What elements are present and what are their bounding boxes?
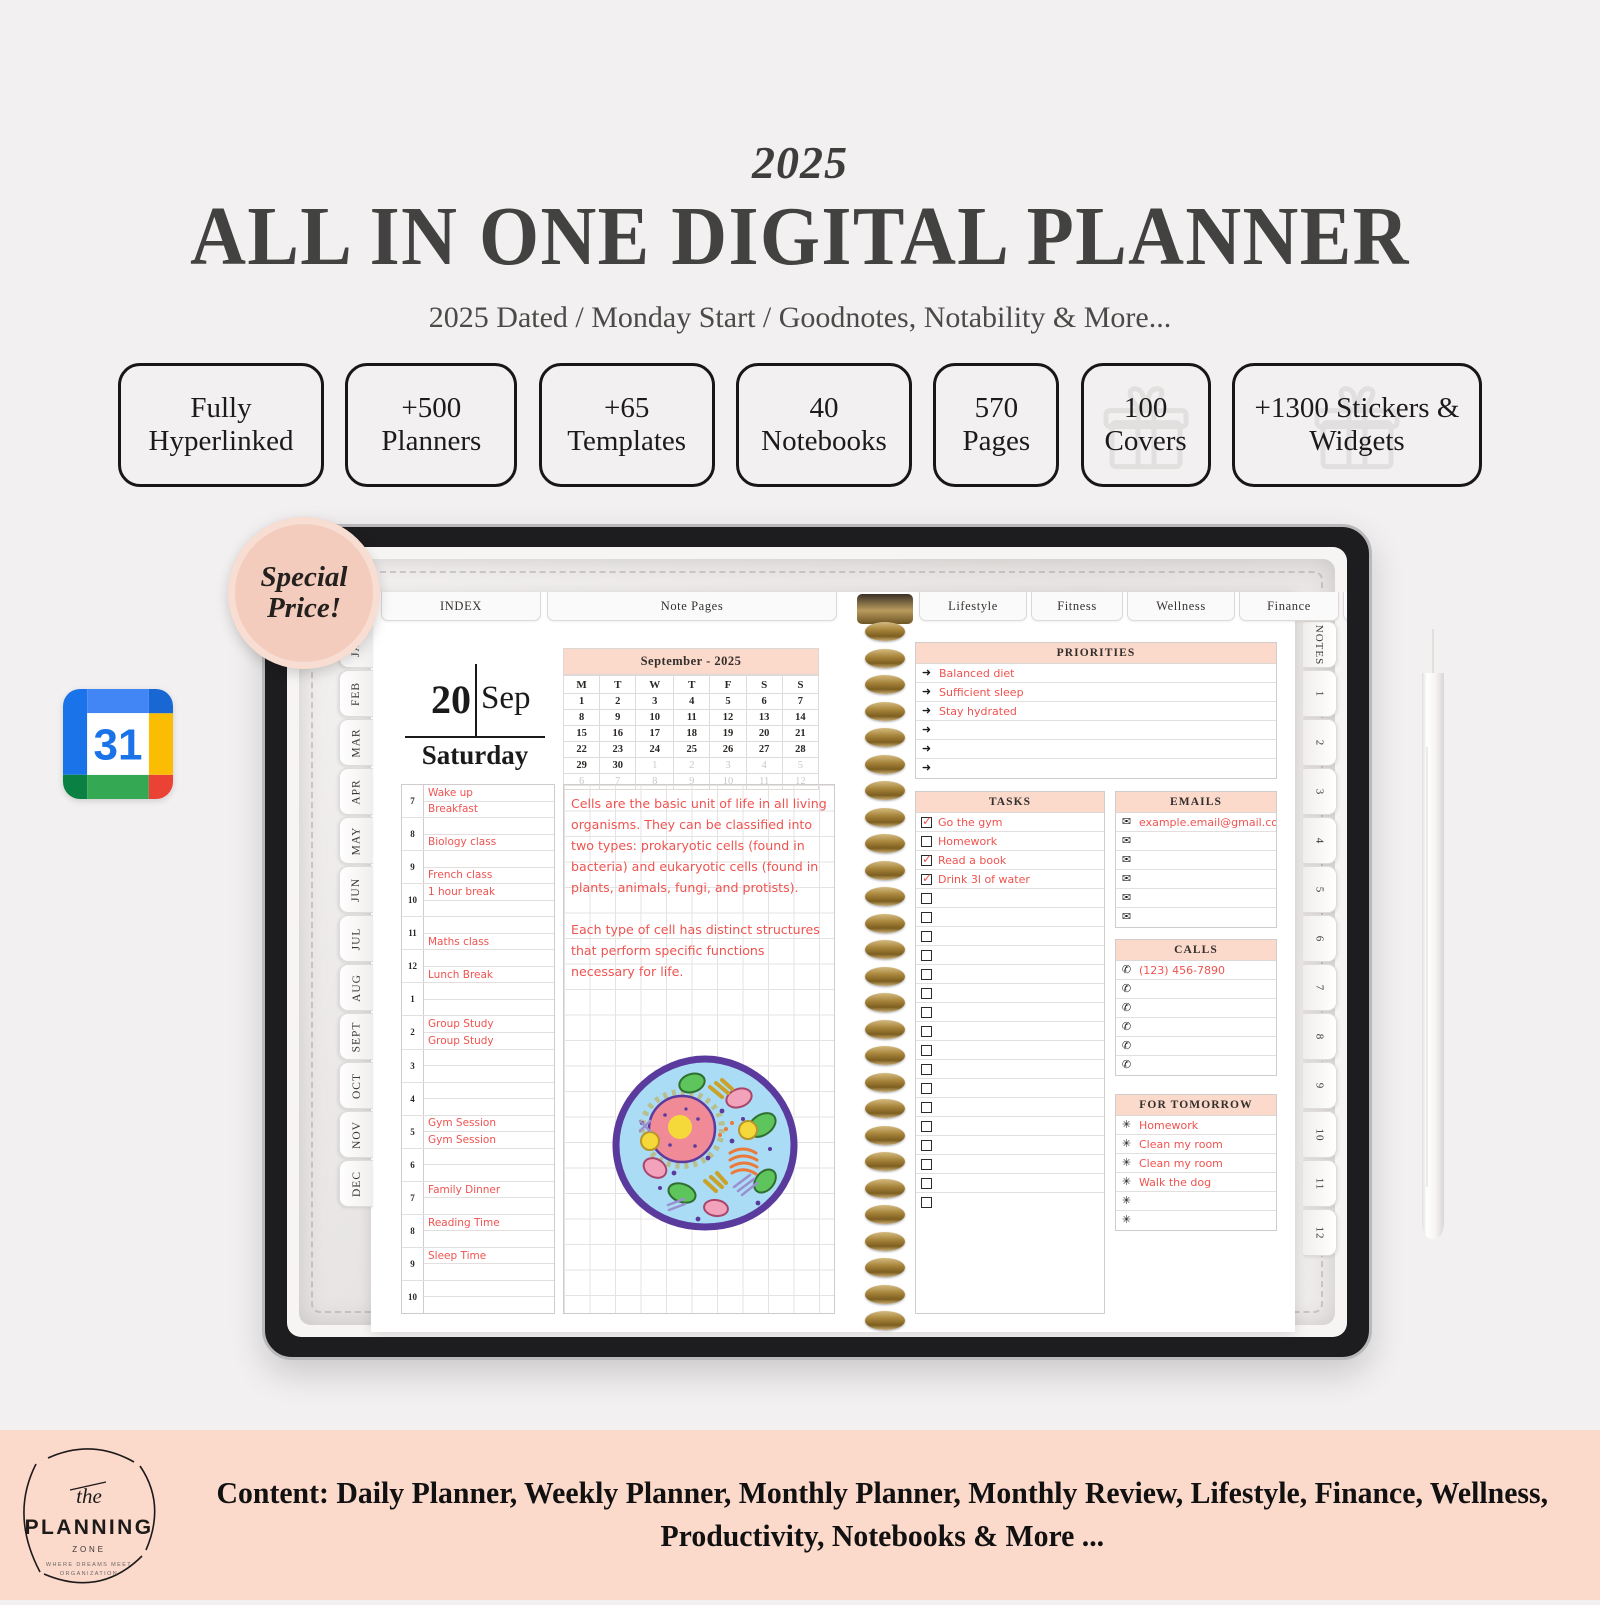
calendar-day-cell[interactable]: 1 bbox=[564, 694, 600, 710]
badge-line-1: Fully bbox=[190, 392, 251, 425]
calendar-day-cell[interactable]: 30 bbox=[600, 758, 636, 774]
priority-row[interactable]: ➜ bbox=[916, 740, 1276, 759]
schedule-entry[interactable] bbox=[424, 901, 554, 917]
schedule-entry[interactable] bbox=[424, 1000, 554, 1016]
task-row[interactable] bbox=[916, 1155, 1104, 1174]
schedule-row[interactable]: 11Maths class bbox=[402, 917, 554, 950]
task-row[interactable] bbox=[916, 1041, 1104, 1060]
call-row[interactable]: ✆ bbox=[1116, 1018, 1276, 1037]
schedule-entry[interactable]: Group Study bbox=[424, 1016, 554, 1033]
notes-tab-label: 3 bbox=[1314, 788, 1326, 795]
calendar-day-cell[interactable]: 28 bbox=[782, 742, 818, 758]
schedule-row[interactable]: 7Wake upBreakfast bbox=[402, 785, 554, 818]
month-tab-label: FEB bbox=[351, 681, 363, 705]
calendar-day-cell[interactable]: 17 bbox=[636, 726, 674, 742]
schedule-entry[interactable] bbox=[424, 1050, 554, 1067]
calendar-day-cell[interactable]: 19 bbox=[710, 726, 746, 742]
feature-badge-covers: 100Covers bbox=[1081, 363, 1211, 487]
schedule-entry[interactable] bbox=[424, 1231, 554, 1247]
schedule-entry[interactable]: Reading Time bbox=[424, 1215, 554, 1232]
special-price-line2: Price! bbox=[267, 593, 341, 624]
calendar-day-cell[interactable]: 15 bbox=[564, 726, 600, 742]
task-row[interactable] bbox=[916, 1003, 1104, 1022]
month-tab-aug[interactable]: AUG bbox=[339, 964, 373, 1011]
logo-name: PLANNING bbox=[25, 1516, 154, 1539]
notes-tab-1[interactable]: 1 bbox=[1303, 670, 1337, 717]
schedule-lines: Group StudyGroup Study bbox=[424, 1016, 554, 1048]
priority-row[interactable]: ➜ bbox=[916, 759, 1276, 778]
task-checkbox[interactable] bbox=[921, 893, 932, 904]
notes-tab-2[interactable]: 2 bbox=[1303, 719, 1337, 766]
task-row[interactable] bbox=[916, 965, 1104, 984]
envelope-icon: ✉ bbox=[1120, 836, 1133, 847]
calendar-day-cell[interactable]: 10 bbox=[636, 710, 674, 726]
schedule-entry[interactable] bbox=[424, 1165, 554, 1181]
calendar-day-cell[interactable]: 12 bbox=[710, 710, 746, 726]
row-text[interactable]: Clean my room bbox=[1139, 1157, 1223, 1170]
email-row[interactable]: ✉example.email@gmail.com bbox=[1116, 813, 1276, 832]
notes-grid-area[interactable]: Cells are the basic unit of life in all … bbox=[563, 784, 835, 1314]
month-tab-sept[interactable]: SEPT bbox=[339, 1013, 373, 1060]
binder-ring bbox=[865, 702, 905, 721]
task-row[interactable]: Homework bbox=[916, 832, 1104, 851]
task-checkbox[interactable] bbox=[921, 1197, 932, 1208]
for-tomorrow-section[interactable]: FOR TOMORROW ✳Homework✳Clean my room✳Cle… bbox=[1115, 1094, 1277, 1231]
month-tab-apr[interactable]: APR bbox=[339, 768, 373, 815]
month-tab-feb[interactable]: FEB bbox=[339, 670, 373, 717]
calendar-day-cell[interactable]: 21 bbox=[782, 726, 818, 742]
emails-section[interactable]: EMAILS ✉example.email@gmail.com✉✉✉✉✉ bbox=[1115, 791, 1277, 928]
schedule-entry[interactable]: Family Dinner bbox=[424, 1182, 554, 1199]
call-row[interactable]: ✆(123) 456-7890 bbox=[1116, 961, 1276, 980]
task-row[interactable] bbox=[916, 1079, 1104, 1098]
logo-tagline-2: ORGANIZATION bbox=[60, 1571, 118, 1577]
phone-icon: ✆ bbox=[1120, 1060, 1133, 1071]
calendar-day-cell[interactable]: 20 bbox=[746, 726, 782, 742]
schedule-lines bbox=[424, 1083, 554, 1115]
task-row[interactable] bbox=[916, 1022, 1104, 1041]
envelope-icon: ✉ bbox=[1120, 855, 1133, 866]
schedule-lines: Maths class bbox=[424, 917, 554, 949]
schedule-entry[interactable] bbox=[424, 1198, 554, 1214]
calendar-day-cell[interactable]: 3 bbox=[636, 694, 674, 710]
notes-tab-6[interactable]: 6 bbox=[1303, 915, 1337, 962]
schedule-row[interactable]: 10 bbox=[402, 1281, 554, 1313]
calendar-day-cell[interactable]: 4 bbox=[674, 694, 710, 710]
gcal-day-number: 31 bbox=[94, 720, 143, 769]
tomorrow-row[interactable]: ✳Clean my room bbox=[1116, 1135, 1276, 1154]
binder-ring bbox=[865, 649, 905, 668]
month-tab-label: JUL bbox=[351, 927, 363, 950]
schedule-entry[interactable] bbox=[424, 1083, 554, 1100]
schedule-hour-label: 11 bbox=[402, 917, 424, 949]
task-row[interactable] bbox=[916, 1117, 1104, 1136]
schedule-lines: Wake upBreakfast bbox=[424, 785, 554, 817]
calendar-day-cell[interactable]: 2 bbox=[600, 694, 636, 710]
calendar-day-cell[interactable]: 4 bbox=[746, 758, 782, 774]
calendar-week-row: 1234567 bbox=[564, 694, 819, 710]
notes-tab-7[interactable]: 7 bbox=[1303, 964, 1337, 1011]
arrow-right-icon: ➜ bbox=[920, 763, 933, 774]
calendar-day-cell[interactable]: 7 bbox=[782, 694, 818, 710]
mini-calendar-grid[interactable]: MTWTFSS 12345678910111213141516171819202… bbox=[563, 675, 819, 790]
tomorrow-row[interactable]: ✳ bbox=[1116, 1211, 1276, 1230]
priority-row[interactable]: ➜ bbox=[916, 721, 1276, 740]
schedule-lines bbox=[424, 1050, 554, 1082]
notes-tab-label: 5 bbox=[1314, 886, 1326, 893]
binder-ring bbox=[865, 1258, 905, 1277]
tab-lifestyle[interactable]: Lifestyle bbox=[919, 592, 1027, 621]
tab-note-pages[interactable]: Note Pages bbox=[547, 592, 837, 621]
header-subtitle: 2025 Dated / Monday Start / Goodnotes, N… bbox=[0, 301, 1600, 335]
binder-ring bbox=[865, 1126, 905, 1145]
task-checkbox[interactable] bbox=[921, 1121, 932, 1132]
task-checkbox[interactable] bbox=[921, 1102, 932, 1113]
brand-logo: the PLANNING ZONE WHERE DREAMS MEET ORGA… bbox=[0, 1430, 178, 1600]
task-checkbox[interactable] bbox=[921, 931, 932, 942]
feature-badge-pages: 570Pages bbox=[933, 363, 1059, 487]
task-checkbox[interactable] bbox=[921, 1178, 932, 1189]
task-checkbox[interactable] bbox=[921, 836, 932, 847]
schedule-entry[interactable] bbox=[424, 1297, 554, 1313]
badge-line-2: Pages bbox=[962, 425, 1030, 458]
month-tab-jul[interactable]: JUL bbox=[339, 915, 373, 962]
call-row[interactable]: ✆ bbox=[1116, 999, 1276, 1018]
notes-tab-strip[interactable]: NOTES123456789101112 bbox=[1303, 621, 1337, 1258]
tab-productivity[interactable]: Productivity bbox=[1343, 592, 1347, 621]
schedule-lines: Reading Time bbox=[424, 1215, 554, 1247]
schedule-lines: French class bbox=[424, 851, 554, 883]
call-row[interactable]: ✆ bbox=[1116, 980, 1276, 999]
task-checkbox[interactable] bbox=[921, 874, 932, 885]
task-row[interactable] bbox=[916, 946, 1104, 965]
schedule-entry[interactable] bbox=[424, 1066, 554, 1082]
binder-ring bbox=[865, 887, 905, 906]
schedule-entry[interactable]: Biology class bbox=[424, 835, 554, 851]
badge-line-2: Widgets bbox=[1309, 425, 1404, 458]
email-row[interactable]: ✉ bbox=[1116, 870, 1276, 889]
row-text[interactable]: Go the gym bbox=[938, 816, 1003, 829]
priority-row[interactable]: ➜Sufficient sleep bbox=[916, 683, 1276, 702]
tab-fitness[interactable]: Fitness bbox=[1031, 592, 1123, 621]
schedule-entry[interactable]: Lunch Break bbox=[424, 967, 554, 983]
task-row[interactable] bbox=[916, 984, 1104, 1003]
calendar-day-cell[interactable]: 8 bbox=[564, 710, 600, 726]
row-text[interactable]: Clean my room bbox=[1139, 1138, 1223, 1151]
schedule-hour-label: 1 bbox=[402, 983, 424, 1015]
calendar-weekday-header: F bbox=[710, 676, 746, 694]
binder-ring bbox=[865, 967, 905, 986]
badge-line-2: Hyperlinked bbox=[149, 425, 294, 458]
tomorrow-row[interactable]: ✳Walk the dog bbox=[1116, 1173, 1276, 1192]
notes-tab-label: 8 bbox=[1314, 1033, 1326, 1040]
schedule-entry[interactable] bbox=[424, 851, 554, 868]
planner-spread: INDEXNote PagesLifestyleFitnessWellnessF… bbox=[371, 592, 1295, 1332]
month-tab-may[interactable]: MAY bbox=[339, 817, 373, 864]
calendar-weekday-header: S bbox=[746, 676, 782, 694]
schedule-row[interactable]: 7Family Dinner bbox=[402, 1182, 554, 1215]
priority-row[interactable]: ➜Balanced diet bbox=[916, 664, 1276, 683]
calendar-day-cell[interactable]: 24 bbox=[636, 742, 674, 758]
phone-icon: ✆ bbox=[1120, 1003, 1133, 1014]
task-row[interactable] bbox=[916, 1060, 1104, 1079]
calendar-weekday-header: W bbox=[636, 676, 674, 694]
row-text[interactable]: Drink 3l of water bbox=[938, 873, 1030, 886]
task-checkbox[interactable] bbox=[921, 988, 932, 999]
schedule-entry[interactable] bbox=[424, 950, 554, 967]
schedule-hour-label: 8 bbox=[402, 1215, 424, 1247]
header-year: 2025 bbox=[0, 136, 1600, 189]
priority-row[interactable]: ➜Stay hydrated bbox=[916, 702, 1276, 721]
schedule-entry[interactable]: Maths class bbox=[424, 934, 554, 950]
schedule-entry[interactable] bbox=[424, 818, 554, 835]
month-tab-mar[interactable]: MAR bbox=[339, 719, 373, 766]
calendar-day-cell[interactable]: 11 bbox=[674, 710, 710, 726]
notes-tab-11[interactable]: 11 bbox=[1303, 1160, 1337, 1207]
stylus-pencil bbox=[1418, 627, 1448, 1241]
planner-right-page: PRIORITIES ➜Balanced diet➜Sufficient sle… bbox=[915, 636, 1279, 1318]
calendar-day-cell[interactable]: 22 bbox=[564, 742, 600, 758]
tab-wellness[interactable]: Wellness bbox=[1127, 592, 1235, 621]
schedule-entry[interactable] bbox=[424, 1264, 554, 1280]
schedule-entry[interactable]: Sleep Time bbox=[424, 1248, 554, 1265]
notes-tab-12[interactable]: 12 bbox=[1303, 1209, 1337, 1256]
tomorrow-row[interactable]: ✳Clean my room bbox=[1116, 1154, 1276, 1173]
notes-tab-label: 2 bbox=[1314, 739, 1326, 746]
schedule-lines bbox=[424, 1281, 554, 1313]
asterisk-icon: ✳ bbox=[1120, 1158, 1133, 1169]
notes-tab-9[interactable]: 9 bbox=[1303, 1062, 1337, 1109]
task-row[interactable] bbox=[916, 889, 1104, 908]
badge-line-1: 570 bbox=[975, 392, 1019, 425]
calendar-day-cell[interactable]: 29 bbox=[564, 758, 600, 774]
calendar-day-cell[interactable]: 3 bbox=[710, 758, 746, 774]
row-text[interactable]: Walk the dog bbox=[1139, 1176, 1211, 1189]
schedule-row[interactable]: 3 bbox=[402, 1050, 554, 1083]
badge-line-1: +65 bbox=[604, 392, 649, 425]
row-text[interactable]: Balanced diet bbox=[939, 667, 1014, 680]
month-tab-label: NOV bbox=[350, 1121, 362, 1149]
task-row[interactable] bbox=[916, 927, 1104, 946]
calendar-day-cell[interactable]: 5 bbox=[710, 694, 746, 710]
top-tab-strip[interactable]: INDEXNote PagesLifestyleFitnessWellnessF… bbox=[371, 592, 1295, 622]
call-row[interactable]: ✆ bbox=[1116, 1037, 1276, 1056]
schedule-entry[interactable]: Gym Session bbox=[424, 1116, 554, 1133]
calendar-weekday-header: T bbox=[600, 676, 636, 694]
task-checkbox[interactable] bbox=[921, 1159, 932, 1170]
schedule-entry[interactable] bbox=[424, 1099, 554, 1115]
calendar-day-cell[interactable]: 5 bbox=[782, 758, 818, 774]
asterisk-icon: ✳ bbox=[1120, 1139, 1133, 1150]
task-checkbox[interactable] bbox=[921, 1007, 932, 1018]
date-header: 20 Sep Saturday bbox=[405, 650, 547, 768]
email-row[interactable]: ✉ bbox=[1116, 908, 1276, 927]
schedule-entry[interactable]: French class bbox=[424, 868, 554, 884]
schedule-entry[interactable]: Gym Session bbox=[424, 1132, 554, 1148]
asterisk-icon: ✳ bbox=[1120, 1215, 1133, 1226]
schedule-entry[interactable]: Group Study bbox=[424, 1033, 554, 1049]
tab-index[interactable]: INDEX bbox=[381, 592, 541, 621]
email-row[interactable]: ✉ bbox=[1116, 851, 1276, 870]
tab-finance[interactable]: Finance bbox=[1239, 592, 1339, 621]
row-text[interactable]: Stay hydrated bbox=[939, 705, 1017, 718]
task-checkbox[interactable] bbox=[921, 950, 932, 961]
call-row[interactable]: ✆ bbox=[1116, 1056, 1276, 1075]
special-price-line1: Special bbox=[261, 562, 348, 593]
notes-tab-label: 4 bbox=[1314, 837, 1326, 844]
binder-ring bbox=[865, 1099, 905, 1118]
task-row[interactable] bbox=[916, 1174, 1104, 1193]
month-tab-strip[interactable]: JANFEBMARAPRMAYJUNJULAUGSEPTOCTNOVDEC bbox=[339, 621, 373, 1209]
task-checkbox[interactable] bbox=[921, 912, 932, 923]
task-row[interactable] bbox=[916, 1136, 1104, 1155]
schedule-hour-label: 7 bbox=[402, 1182, 424, 1214]
notes-tab-5[interactable]: 5 bbox=[1303, 866, 1337, 913]
binder-ring bbox=[865, 728, 905, 747]
task-checkbox[interactable] bbox=[921, 1140, 932, 1151]
calendar-day-cell[interactable]: 9 bbox=[600, 710, 636, 726]
schedule-row[interactable]: 2Group StudyGroup Study bbox=[402, 1016, 554, 1049]
row-text[interactable]: Sufficient sleep bbox=[939, 686, 1024, 699]
feature-badge-planners: +500Planners bbox=[345, 363, 517, 487]
priorities-section[interactable]: PRIORITIES ➜Balanced diet➜Sufficient sle… bbox=[915, 642, 1277, 779]
date-divider-horizontal bbox=[405, 736, 545, 738]
notes-tab-notes[interactable]: NOTES bbox=[1303, 621, 1337, 668]
task-checkbox[interactable] bbox=[921, 855, 932, 866]
notes-tab-3[interactable]: 3 bbox=[1303, 768, 1337, 815]
month-tab-nov[interactable]: NOV bbox=[339, 1111, 373, 1158]
binder-ring bbox=[865, 781, 905, 800]
calendar-weekday-header: M bbox=[564, 676, 600, 694]
task-row[interactable] bbox=[916, 1193, 1104, 1212]
email-row[interactable]: ✉ bbox=[1116, 889, 1276, 908]
footer-line-1: Content: Daily Planner, Weekly Planner, … bbox=[206, 1472, 1558, 1515]
calendar-day-cell[interactable]: 6 bbox=[746, 694, 782, 710]
schedule-row[interactable]: 12Lunch Break bbox=[402, 950, 554, 983]
envelope-icon: ✉ bbox=[1120, 817, 1133, 828]
task-checkbox[interactable] bbox=[921, 817, 932, 828]
tasks-title: TASKS bbox=[916, 792, 1104, 813]
task-row[interactable] bbox=[916, 908, 1104, 927]
emails-title: EMAILS bbox=[1116, 792, 1276, 813]
schedule-row[interactable]: 1 bbox=[402, 983, 554, 1016]
row-text[interactable]: Homework bbox=[1139, 1119, 1198, 1132]
notes-tab-label: 6 bbox=[1314, 935, 1326, 942]
calendar-day-cell[interactable]: 14 bbox=[782, 710, 818, 726]
binder-ring bbox=[865, 1285, 905, 1304]
tomorrow-row[interactable]: ✳Homework bbox=[1116, 1116, 1276, 1135]
notes-tab-label: 10 bbox=[1314, 1128, 1326, 1141]
calendar-week-row: 293012345 bbox=[564, 758, 819, 774]
tasks-section[interactable]: TASKS Go the gymHomeworkRead a bookDrink… bbox=[915, 791, 1105, 1314]
asterisk-icon: ✳ bbox=[1120, 1120, 1133, 1131]
date-weekday: Saturday bbox=[405, 740, 545, 771]
calendar-day-cell[interactable]: 1 bbox=[636, 758, 674, 774]
notes-tab-10[interactable]: 10 bbox=[1303, 1111, 1337, 1158]
task-checkbox[interactable] bbox=[921, 969, 932, 980]
task-row[interactable]: Drink 3l of water bbox=[916, 870, 1104, 889]
row-text[interactable]: example.email@gmail.com bbox=[1139, 816, 1276, 829]
badge-line-2: Notebooks bbox=[761, 425, 887, 458]
schedule-row[interactable]: 8Reading Time bbox=[402, 1215, 554, 1248]
schedule-entry[interactable]: Wake up bbox=[424, 785, 554, 802]
calendar-day-cell[interactable]: 13 bbox=[746, 710, 782, 726]
binder-ring bbox=[865, 993, 905, 1012]
schedule-lines bbox=[424, 1149, 554, 1181]
notes-tab-label: 7 bbox=[1314, 984, 1326, 991]
binder-ring bbox=[865, 1179, 905, 1198]
row-text[interactable]: (123) 456-7890 bbox=[1139, 964, 1225, 977]
month-tab-label: DEC bbox=[351, 1171, 363, 1197]
notes-tab-8[interactable]: 8 bbox=[1303, 1013, 1337, 1060]
envelope-icon: ✉ bbox=[1120, 912, 1133, 923]
schedule-hour-label: 8 bbox=[402, 818, 424, 850]
hourly-schedule[interactable]: 7Wake upBreakfast8Biology class9French c… bbox=[401, 784, 555, 1314]
schedule-entry[interactable] bbox=[424, 917, 554, 934]
schedule-entry[interactable]: 1 hour break bbox=[424, 884, 554, 901]
calls-section[interactable]: CALLS ✆(123) 456-7890✆✆✆✆✆ bbox=[1115, 939, 1277, 1076]
schedule-entry[interactable]: Breakfast bbox=[424, 802, 554, 818]
schedule-entry[interactable] bbox=[424, 983, 554, 1000]
arrow-right-icon: ➜ bbox=[920, 725, 933, 736]
page-title: ALL IN ONE DIGITAL PLANNER bbox=[64, 195, 1536, 279]
badge-line-2: Templates bbox=[567, 425, 686, 458]
schedule-row[interactable]: 9Sleep Time bbox=[402, 1248, 554, 1281]
email-row[interactable]: ✉ bbox=[1116, 832, 1276, 851]
calendar-day-cell[interactable]: 2 bbox=[674, 758, 710, 774]
row-text[interactable]: Homework bbox=[938, 835, 997, 848]
schedule-hour-label: 3 bbox=[402, 1050, 424, 1082]
schedule-hour-label: 5 bbox=[402, 1116, 424, 1148]
notes-tab-4[interactable]: 4 bbox=[1303, 817, 1337, 864]
calendar-day-cell[interactable]: 27 bbox=[746, 742, 782, 758]
mini-calendar[interactable]: September - 2025 MTWTFSS 123456789101112… bbox=[563, 648, 819, 790]
schedule-row[interactable]: 5Gym SessionGym Session bbox=[402, 1116, 554, 1149]
task-checkbox[interactable] bbox=[921, 1083, 932, 1094]
month-tab-jun[interactable]: JUN bbox=[339, 866, 373, 913]
task-row[interactable] bbox=[916, 1098, 1104, 1117]
calendar-day-cell[interactable]: 18 bbox=[674, 726, 710, 742]
month-tab-dec[interactable]: DEC bbox=[339, 1160, 373, 1207]
tomorrow-row[interactable]: ✳ bbox=[1116, 1192, 1276, 1211]
calendar-day-cell[interactable]: 16 bbox=[600, 726, 636, 742]
for-tomorrow-title: FOR TOMORROW bbox=[1116, 1095, 1276, 1116]
date-divider-vertical bbox=[475, 664, 477, 736]
month-tab-oct[interactable]: OCT bbox=[339, 1062, 373, 1109]
special-price-badge: Special Price! bbox=[228, 517, 380, 669]
calls-title: CALLS bbox=[1116, 940, 1276, 961]
badge-line-1: 40 bbox=[809, 392, 838, 425]
schedule-entry[interactable] bbox=[424, 1149, 554, 1166]
schedule-row[interactable]: 6 bbox=[402, 1149, 554, 1182]
footer-line-2: Productivity, Notebooks & More ... bbox=[206, 1515, 1558, 1558]
task-row[interactable]: Read a book bbox=[916, 851, 1104, 870]
task-checkbox[interactable] bbox=[921, 1045, 932, 1056]
task-row[interactable]: Go the gym bbox=[916, 813, 1104, 832]
calendar-day-cell[interactable]: 25 bbox=[674, 742, 710, 758]
task-checkbox[interactable] bbox=[921, 1026, 932, 1037]
schedule-row[interactable]: 4 bbox=[402, 1083, 554, 1116]
schedule-row[interactable]: 9French class bbox=[402, 851, 554, 884]
animal-cell-diagram-sticker bbox=[610, 1053, 800, 1233]
calendar-day-cell[interactable]: 23 bbox=[600, 742, 636, 758]
calendar-day-cell[interactable]: 26 bbox=[710, 742, 746, 758]
task-checkbox[interactable] bbox=[921, 1064, 932, 1075]
schedule-row[interactable]: 101 hour break bbox=[402, 884, 554, 917]
schedule-row[interactable]: 8Biology class bbox=[402, 818, 554, 851]
row-text[interactable]: Read a book bbox=[938, 854, 1006, 867]
schedule-entry[interactable] bbox=[424, 1281, 554, 1298]
